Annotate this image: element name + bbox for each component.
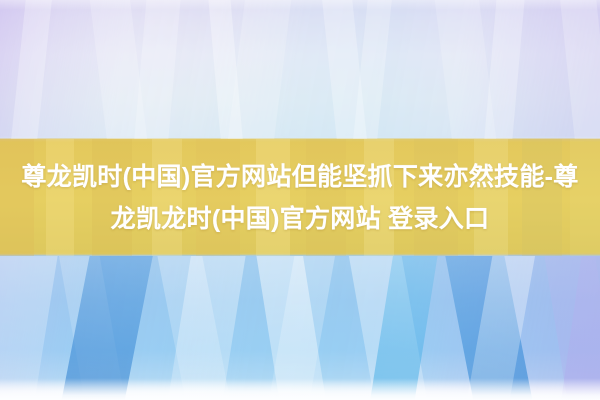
banner-title-line-2: 龙凯龙时(中国)官方网站 登录入口	[111, 198, 490, 240]
top-edge-fade	[0, 0, 600, 10]
ribbon-shape	[556, 0, 600, 139]
banner-title-line-1: 尊龙凯时(中国)官方网站但能坚抓下来亦然技能-尊	[21, 156, 578, 198]
bottom-edge-fade	[0, 378, 600, 400]
ribbon-shape	[5, 0, 56, 139]
top-ribbon-overlay	[0, 0, 600, 139]
decorative-banner: 尊龙凯时(中国)官方网站但能坚抓下来亦然技能-尊 龙凯龙时(中国)官方网站 登录…	[0, 0, 600, 400]
banner-title: 尊龙凯时(中国)官方网站但能坚抓下来亦然技能-尊 龙凯龙时(中国)官方网站 登录…	[0, 139, 600, 256]
